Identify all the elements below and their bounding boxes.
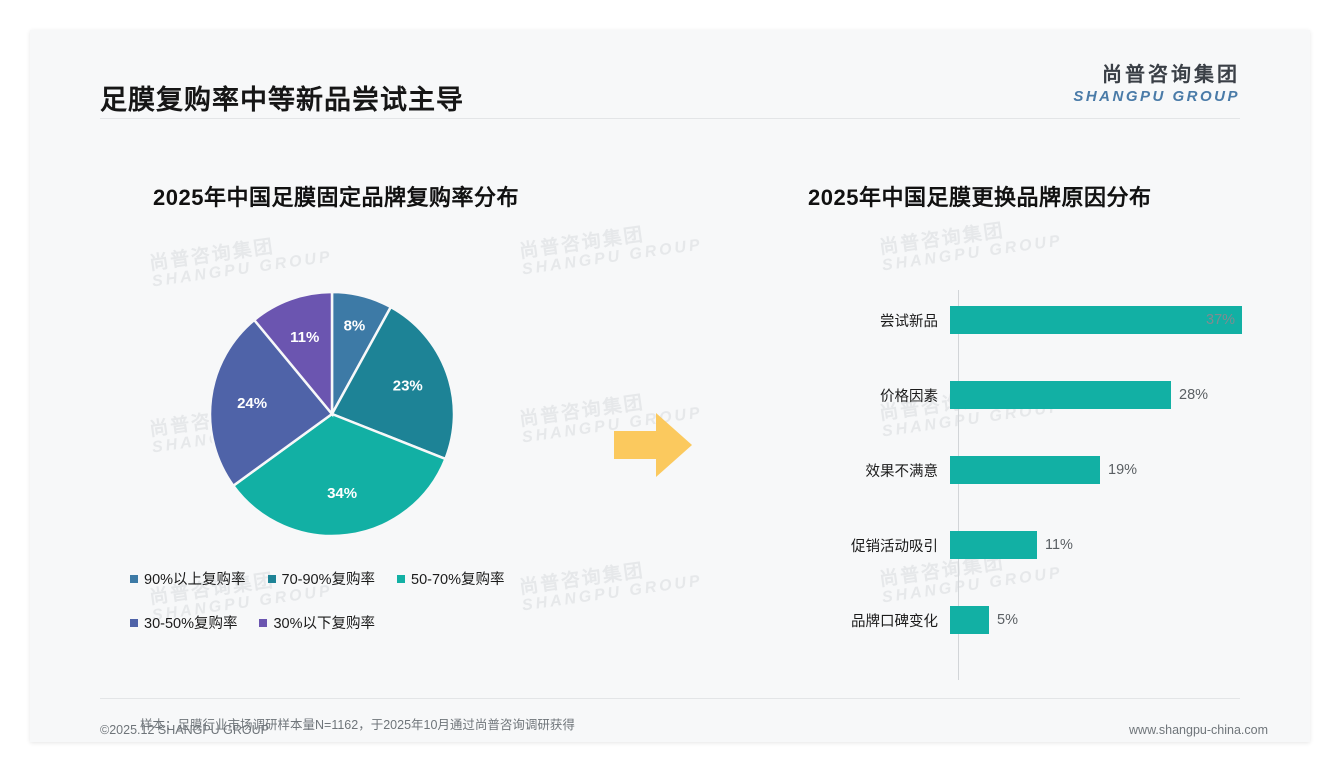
legend-swatch-icon	[259, 619, 267, 627]
bar-category-label: 效果不满意	[810, 460, 950, 481]
bar-track: 28%	[950, 375, 1250, 415]
bar-track: 5%	[950, 600, 1250, 640]
bar-category-label: 尝试新品	[810, 310, 950, 331]
bar-category-label: 促销活动吸引	[810, 535, 950, 556]
pie-chart: 8%23%34%24%11%	[208, 290, 456, 538]
bar-chart-panel: 2025年中国足膜更换品牌原因分布 尝试新品37%价格因素28%效果不满意19%…	[730, 150, 1250, 670]
bar-value-label: 11%	[1045, 537, 1073, 553]
right-arrow-svg	[608, 400, 698, 490]
legend-item[interactable]: 70-90%复购率	[268, 568, 375, 589]
bar-track: 37%	[950, 300, 1250, 340]
bar-value-label: 28%	[1179, 387, 1208, 403]
bar-fill[interactable]	[950, 606, 989, 634]
legend-label: 50-70%复购率	[411, 568, 504, 589]
bar-chart: 尝试新品37%价格因素28%效果不满意19%促销活动吸引11%品牌口碑变化5%	[810, 290, 1250, 680]
bar-row[interactable]: 尝试新品37%	[810, 300, 1250, 340]
legend-item[interactable]: 90%以上复购率	[130, 568, 246, 589]
right-arrow-icon	[608, 400, 698, 490]
bar-category-label: 品牌口碑变化	[810, 610, 950, 631]
legend-swatch-icon	[130, 619, 138, 627]
pie-slice-label: 34%	[327, 485, 357, 502]
legend-item[interactable]: 50-70%复购率	[397, 568, 504, 589]
bar-fill[interactable]	[950, 381, 1171, 409]
bar-track: 11%	[950, 525, 1250, 565]
bar-row[interactable]: 效果不满意19%	[810, 450, 1250, 490]
pie-legend: 90%以上复购率 70-90%复购率 50-70%复购率 30-50%复购率	[130, 568, 610, 633]
legend-item[interactable]: 30%以下复购率	[259, 612, 375, 633]
legend-label: 70-90%复购率	[282, 568, 375, 589]
pie-slice-label: 23%	[393, 378, 423, 395]
note-divider	[100, 698, 1240, 699]
legend-label: 90%以上复购率	[144, 568, 246, 589]
legend-swatch-icon	[130, 575, 138, 583]
company-logo: 尚普咨询集团 SHANGPU GROUP	[1073, 58, 1240, 105]
bar-category-label: 价格因素	[810, 385, 950, 406]
pie-slice-label: 11%	[290, 329, 319, 346]
legend-swatch-icon	[268, 575, 276, 583]
footer-website[interactable]: www.shangpu-china.com	[1129, 723, 1268, 737]
header-divider	[100, 118, 1240, 119]
pie-slice-label: 8%	[344, 318, 366, 335]
slide-footer: ©2025.12 SHANGPU GROUP www.shangpu-china…	[0, 712, 1340, 752]
legend-item[interactable]: 30-50%复购率	[130, 612, 237, 633]
pie-chart-svg: 8%23%34%24%11%	[208, 290, 456, 538]
logo-text-cn: 尚普咨询集团	[1073, 58, 1240, 87]
bar-value-label: 37%	[1206, 312, 1235, 328]
legend-label: 30-50%复购率	[144, 612, 237, 633]
page-title: 足膜复购率中等新品尝试主导	[100, 78, 464, 117]
pie-chart-panel: 2025年中国足膜固定品牌复购率分布 8%23%34%24%11% 90%以上复…	[100, 150, 630, 670]
bar-row[interactable]: 品牌口碑变化5%	[810, 600, 1250, 640]
bar-fill[interactable]	[950, 456, 1100, 484]
bar-fill[interactable]	[950, 306, 1242, 334]
legend-swatch-icon	[397, 575, 405, 583]
footer-copyright: ©2025.12 SHANGPU GROUP	[100, 723, 269, 737]
slide-header: 足膜复购率中等新品尝试主导 尚普咨询集团 SHANGPU GROUP	[30, 30, 1310, 118]
bar-row[interactable]: 促销活动吸引11%	[810, 525, 1250, 565]
slide-canvas: 尚普咨询集团SHANGPU GROUP 尚普咨询集团SHANGPU GROUP …	[30, 30, 1310, 742]
bar-chart-title: 2025年中国足膜更换品牌原因分布	[808, 180, 1151, 212]
bar-value-label: 5%	[997, 612, 1018, 628]
bar-track: 19%	[950, 450, 1250, 490]
bar-row[interactable]: 价格因素28%	[810, 375, 1250, 415]
logo-text-en: SHANGPU GROUP	[1073, 88, 1240, 105]
bar-fill[interactable]	[950, 531, 1037, 559]
bar-value-label: 19%	[1108, 462, 1137, 478]
legend-label: 30%以下复购率	[273, 612, 375, 633]
pie-slice-label: 24%	[237, 395, 267, 412]
pie-chart-title: 2025年中国足膜固定品牌复购率分布	[153, 180, 519, 212]
